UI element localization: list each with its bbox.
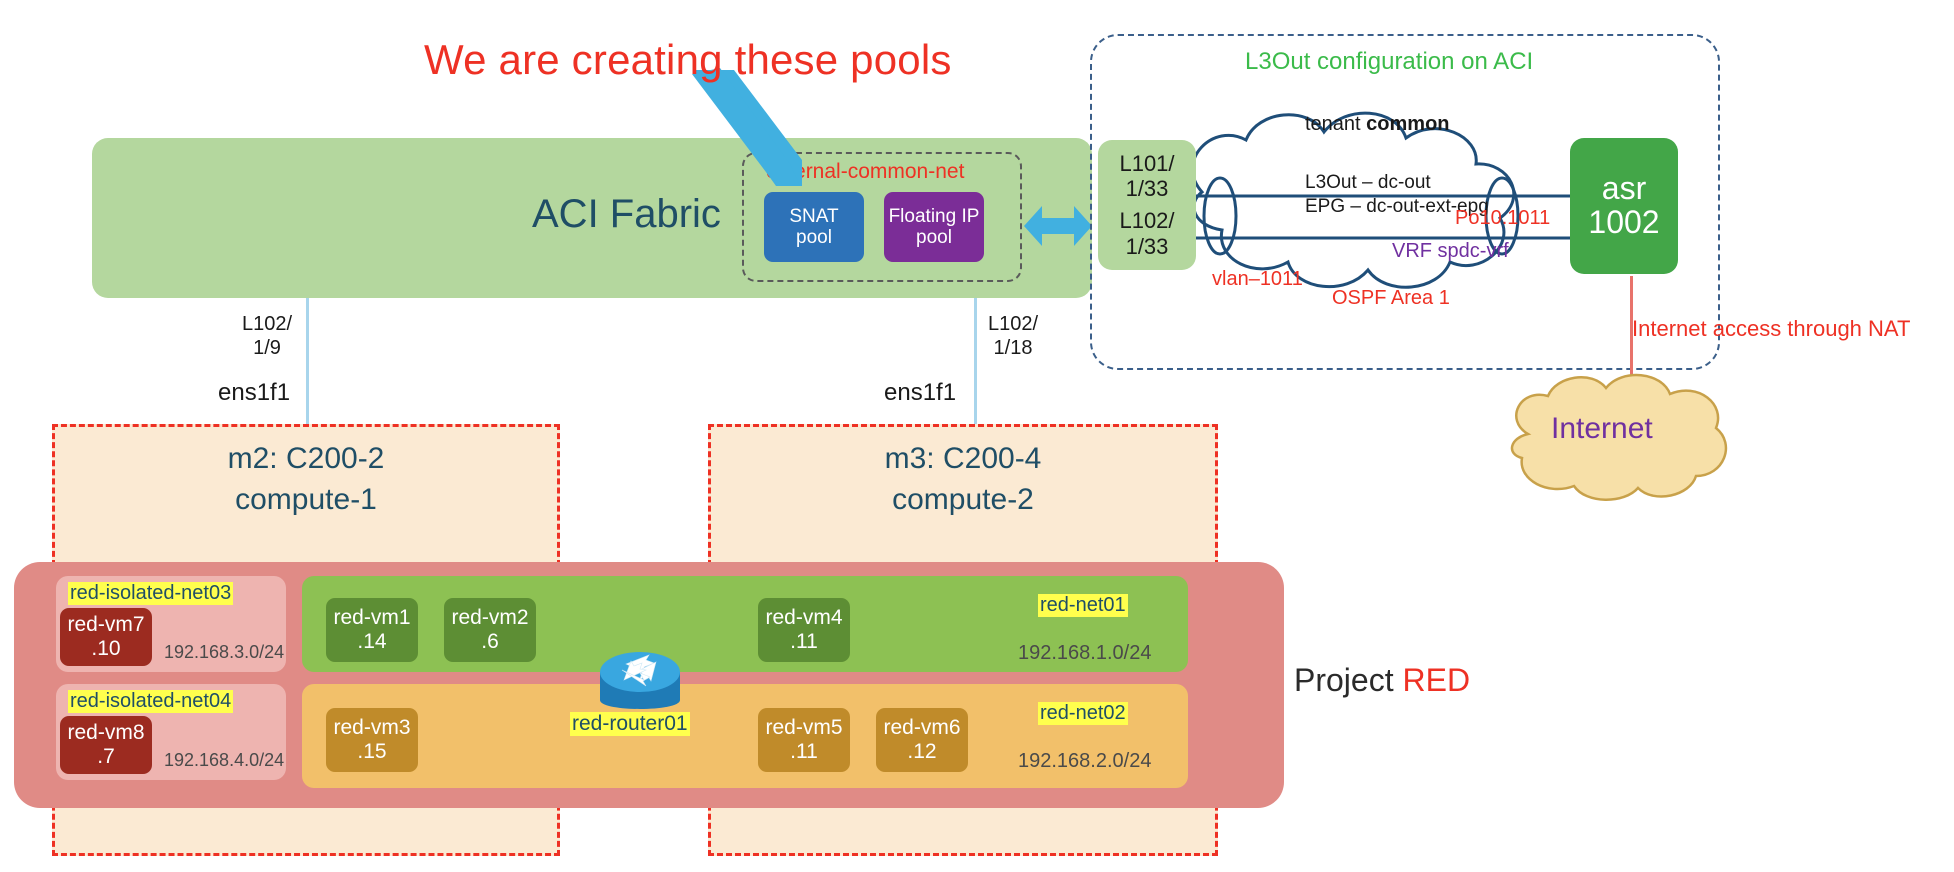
vm-red-vm8[interactable]: red-vm8 .7: [60, 716, 152, 774]
isolated-net04-subnet: 192.168.4.0/24: [164, 750, 284, 771]
callout-text: We are creating these pools: [424, 36, 952, 84]
snat-pool-suffix: pool: [796, 227, 832, 248]
vm-red-vm6-ip: .12: [907, 740, 936, 764]
vm-red-vm3[interactable]: red-vm3 .15: [326, 708, 418, 772]
project-red-label: Project RED: [1294, 662, 1470, 699]
compute-host-1-title: m2: C200-2 compute-1: [52, 438, 560, 521]
port-channel-label: Po10.1011: [1455, 207, 1550, 230]
vm-red-vm8-name: red-vm8: [67, 721, 144, 745]
red-net01-tag: red-net01: [1038, 594, 1128, 617]
vm-red-vm5[interactable]: red-vm5 .11: [758, 708, 850, 772]
diagram-canvas: ACI Fabric external-common-net SNAT pool…: [0, 0, 1954, 872]
nic-label-compute-2: ens1f1: [884, 379, 956, 407]
vm-red-vm2-ip: .6: [481, 630, 499, 654]
leaf-l102-label: L102/1/33: [1119, 208, 1174, 259]
vm-red-vm2-name: red-vm2: [451, 606, 528, 630]
aci-leaf-ports-box: L101/1/33 L102/1/33: [1098, 140, 1196, 270]
compute-host-2-title: m3: C200-4 compute-2: [708, 438, 1218, 521]
project-prefix: Project: [1294, 662, 1402, 698]
vm-red-vm6-name: red-vm6: [883, 716, 960, 740]
isolated-net04-tag: red-isolated-net04: [68, 690, 233, 713]
vm-red-vm7[interactable]: red-vm7 .10: [60, 608, 152, 666]
snat-pool-box[interactable]: SNAT pool: [764, 192, 864, 262]
vm-red-vm4-ip: .11: [790, 630, 818, 654]
uplink-line-compute-1: [306, 298, 309, 426]
vm-red-vm4[interactable]: red-vm4 .11: [758, 598, 850, 662]
vrf-label: VRF spdc-vrf: [1392, 240, 1509, 263]
red-net01-subnet: 192.168.1.0/24: [1018, 642, 1151, 665]
snat-pool-name: SNAT: [789, 206, 838, 227]
vlan-label: vlan–1011: [1212, 268, 1303, 291]
nat-note-label: Internet access through NAT: [1632, 316, 1910, 342]
vm-red-vm5-name: red-vm5: [765, 716, 842, 740]
port-label-compute-1: L102/1/9: [232, 312, 302, 360]
isolated-net03-subnet: 192.168.3.0/24: [164, 642, 284, 663]
vm-red-vm7-ip: .10: [91, 637, 120, 661]
isolated-net03-tag: red-isolated-net03: [68, 582, 233, 605]
l3out-name-label: L3Out – dc-out: [1305, 171, 1489, 195]
vm-red-vm5-ip: .11: [790, 740, 818, 764]
vm-red-vm1-ip: .14: [357, 630, 386, 654]
vm-red-vm3-ip: .15: [357, 740, 386, 764]
floating-ip-pool-box[interactable]: Floating IP pool: [884, 192, 984, 262]
tenant-common-label: tenant common: [1305, 113, 1450, 136]
vm-red-vm7-name: red-vm7: [67, 613, 144, 637]
project-name: RED: [1402, 662, 1470, 698]
vm-red-vm2[interactable]: red-vm2 .6: [444, 598, 536, 662]
vm-red-vm4-name: red-vm4: [765, 606, 842, 630]
red-net02-subnet: 192.168.2.0/24: [1018, 750, 1151, 773]
asr-router-box: asr 1002: [1570, 138, 1678, 274]
asr-line1: asr: [1602, 172, 1646, 206]
callout-arrow-icon: [690, 68, 810, 188]
floating-ip-pool-name: Floating IP: [889, 206, 980, 227]
vm-red-vm8-ip: .7: [97, 745, 115, 769]
l3out-title: L3Out configuration on ACI: [1245, 48, 1533, 76]
leaf-l101-label: L101/1/33: [1119, 151, 1174, 202]
vm-red-vm1[interactable]: red-vm1 .14: [326, 598, 418, 662]
vm-red-vm6[interactable]: red-vm6 .12: [876, 708, 968, 772]
nic-label-compute-1: ens1f1: [218, 379, 290, 407]
vm-red-vm1-name: red-vm1: [333, 606, 410, 630]
vm-red-vm3-name: red-vm3: [333, 716, 410, 740]
ospf-area-label: OSPF Area 1: [1332, 287, 1450, 310]
internet-label: Internet: [1551, 412, 1653, 446]
port-label-compute-2: L102/1/18: [978, 312, 1048, 360]
red-net02-tag: red-net02: [1038, 702, 1128, 725]
uplink-line-compute-2: [974, 298, 977, 426]
router-label: red-router01: [570, 712, 690, 736]
floating-ip-pool-suffix: pool: [916, 227, 952, 248]
asr-line2: 1002: [1588, 206, 1659, 240]
aci-fabric-label: ACI Fabric: [532, 192, 721, 237]
fabric-l3out-double-arrow-icon: [1024, 198, 1092, 254]
